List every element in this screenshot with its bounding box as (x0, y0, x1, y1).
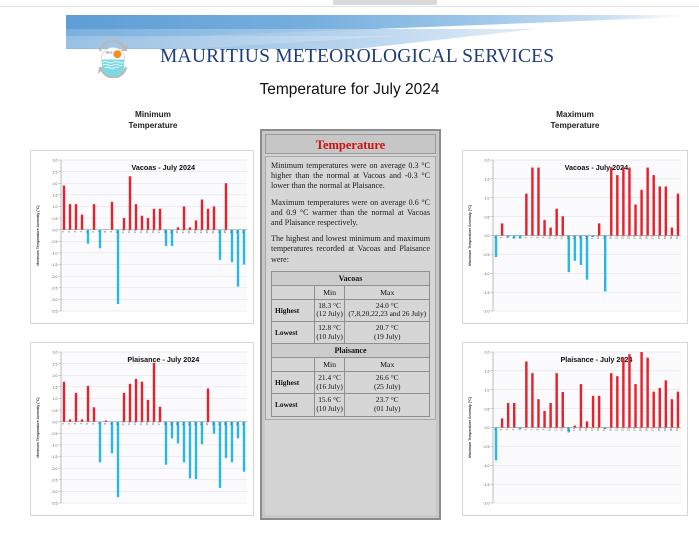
svg-text:11: 11 (121, 422, 125, 425)
svg-text:27: 27 (651, 428, 655, 432)
svg-text:20: 20 (608, 428, 612, 432)
header-banner-graphic (66, 15, 686, 49)
svg-text:-0.5: -0.5 (51, 240, 57, 244)
chart-vacoas-minimum: 3.02.52.01.51.00.50.0-0.5-1.0-1.5-2.0-2.… (30, 150, 254, 324)
svg-text:-3.0: -3.0 (51, 298, 57, 302)
svg-text:-2.0: -2.0 (483, 310, 489, 314)
svg-text:-1.0: -1.0 (51, 252, 57, 256)
table-row: Min Max (272, 285, 430, 299)
svg-text:6: 6 (91, 231, 95, 233)
svg-text:0.0: 0.0 (53, 420, 58, 424)
svg-text:12: 12 (127, 230, 131, 234)
document-page: MMS MAURITIUS METEOROLOGICAL SERVICES Te… (0, 7, 699, 524)
svg-text:28: 28 (223, 422, 227, 426)
svg-text:1: 1 (61, 423, 65, 425)
svg-text:31: 31 (675, 236, 679, 240)
cell-vacoas-lowest-max: 20.7 °C(19 July) (345, 322, 430, 344)
svg-text:16: 16 (151, 230, 155, 234)
svg-text:23: 23 (626, 428, 630, 432)
svg-text:20: 20 (175, 422, 179, 426)
svg-text:-1.0: -1.0 (483, 272, 489, 276)
row-header-lowest-plaisance: Lowest (272, 394, 315, 416)
caption-minimum-temperature: Minimum Temperature (78, 109, 228, 131)
row-header-lowest-vacoas: Lowest (272, 322, 315, 344)
col-blank-plaisance (272, 358, 315, 372)
organization-title: MAURITIUS METEOROLOGICAL SERVICES (160, 46, 630, 68)
svg-text:7: 7 (97, 231, 101, 233)
svg-text:Maximum Temperature Anomaly (°: Maximum Temperature Anomaly (°C) (468, 397, 472, 458)
svg-text:9: 9 (109, 231, 113, 233)
svg-text:-2.0: -2.0 (51, 275, 57, 279)
svg-text:28: 28 (223, 230, 227, 234)
svg-text:24: 24 (199, 230, 203, 234)
svg-text:4: 4 (511, 428, 515, 430)
svg-text:11: 11 (554, 428, 558, 431)
svg-text:10: 10 (548, 428, 552, 432)
table-row: Highest 18.3 °C(12 July) 24.0 °C(7,8,20,… (272, 299, 430, 321)
svg-text:15: 15 (145, 230, 149, 234)
svg-text:-1.5: -1.5 (483, 291, 489, 295)
svg-text:-0.5: -0.5 (483, 445, 489, 449)
svg-text:2: 2 (67, 231, 71, 233)
svg-text:8: 8 (535, 236, 539, 238)
section-header-plaisance: Plaisance (272, 344, 430, 358)
svg-text:16: 16 (584, 428, 588, 432)
svg-text:9: 9 (542, 236, 546, 238)
svg-text:2.0: 2.0 (485, 159, 490, 163)
panel-body: Minimum temperatures were on average 0.3… (265, 156, 436, 420)
svg-text:17: 17 (590, 428, 594, 432)
svg-text:29: 29 (229, 230, 233, 234)
svg-text:19: 19 (602, 428, 606, 432)
svg-text:-3.0: -3.0 (51, 490, 57, 494)
svg-text:Maximum Temperature Anomaly (°: Maximum Temperature Anomaly (°C) (468, 205, 472, 266)
temperature-summary-panel: Temperature Minimum temperatures were on… (260, 129, 441, 520)
row-header-highest-plaisance: Highest (272, 372, 315, 394)
svg-text:5: 5 (85, 423, 89, 425)
svg-text:21: 21 (614, 236, 618, 240)
svg-text:-2.5: -2.5 (51, 286, 57, 290)
svg-text:27: 27 (651, 236, 655, 240)
svg-text:6: 6 (523, 428, 527, 430)
svg-text:-2.0: -2.0 (483, 502, 489, 506)
cell-vacoas-lowest-min: 12.8 °C(10 July) (314, 322, 345, 344)
svg-text:16: 16 (151, 422, 155, 426)
svg-text:1.5: 1.5 (53, 386, 58, 390)
svg-text:1: 1 (493, 428, 497, 430)
svg-text:20: 20 (608, 236, 612, 240)
table-row: Highest 21.4 °C(16 July) 26.6 °C(25 July… (272, 372, 430, 394)
temperature-extremes-table: Vacoas Min Max Highest 18.3 °C(12 July) (271, 271, 430, 417)
cell-plaisance-lowest-min: 15.6 °C(10 July) (314, 394, 345, 416)
svg-text:-2.0: -2.0 (51, 467, 57, 471)
svg-text:23: 23 (626, 236, 630, 240)
svg-text:Vacoas - July 2024: Vacoas - July 2024 (565, 163, 629, 172)
svg-text:2.0: 2.0 (53, 182, 58, 186)
svg-text:2: 2 (499, 428, 503, 430)
section-header-vacoas: Vacoas (272, 271, 430, 285)
svg-text:2.0: 2.0 (53, 374, 58, 378)
svg-text:3: 3 (73, 423, 77, 425)
chart-plaisance-minimum-svg: 3.02.52.01.51.00.50.0-0.5-1.0-1.5-2.0-2.… (31, 343, 253, 515)
svg-text:27: 27 (217, 230, 221, 234)
panel-paragraph-2: Maximum temperatures were on average 0.6… (271, 198, 430, 229)
svg-text:8: 8 (103, 423, 107, 425)
svg-text:2.5: 2.5 (53, 362, 58, 366)
svg-text:17: 17 (157, 230, 161, 234)
svg-text:26: 26 (645, 236, 649, 240)
svg-text:22: 22 (620, 236, 624, 240)
svg-text:-0.5: -0.5 (51, 432, 57, 436)
svg-text:12: 12 (560, 428, 564, 432)
chart-vacoas-maximum: 2.01.51.00.50.0-0.5-1.0-1.5-2.0Maximum T… (462, 150, 688, 324)
col-min-plaisance: Min (314, 358, 345, 372)
svg-text:0.5: 0.5 (485, 215, 490, 219)
svg-text:14: 14 (139, 230, 143, 234)
col-blank-vacoas (272, 285, 315, 299)
svg-text:10: 10 (548, 236, 552, 240)
svg-text:13: 13 (133, 422, 137, 426)
panel-heading: Temperature (265, 134, 436, 154)
svg-text:27: 27 (217, 422, 221, 426)
svg-text:18: 18 (163, 422, 167, 426)
svg-text:-1.0: -1.0 (483, 464, 489, 468)
svg-text:9: 9 (542, 428, 546, 430)
svg-text:-1.5: -1.5 (51, 263, 57, 267)
svg-text:-0.5: -0.5 (483, 253, 489, 257)
svg-text:-3.5: -3.5 (51, 310, 57, 314)
svg-text:25: 25 (639, 428, 643, 432)
svg-text:5: 5 (85, 231, 89, 233)
svg-text:22: 22 (620, 428, 624, 432)
chart-plaisance-maximum-svg: 2.01.51.00.50.0-0.5-1.0-1.5-2.0Maximum T… (463, 343, 687, 515)
panel-paragraph-3: The highest and lowest minimum and maxim… (271, 234, 430, 265)
svg-text:4: 4 (79, 231, 83, 233)
svg-text:18: 18 (596, 236, 600, 240)
svg-text:13: 13 (566, 236, 570, 240)
svg-text:-1.5: -1.5 (483, 483, 489, 487)
svg-text:0.0: 0.0 (485, 234, 490, 238)
svg-text:24: 24 (633, 236, 637, 240)
svg-text:8: 8 (535, 428, 539, 430)
svg-text:1.0: 1.0 (485, 196, 490, 200)
table-row: Plaisance (272, 344, 430, 358)
svg-text:0.5: 0.5 (485, 407, 490, 411)
svg-text:30: 30 (669, 428, 673, 432)
caption-maximum-temperature: Maximum Temperature (500, 109, 650, 131)
svg-text:7: 7 (529, 236, 533, 238)
svg-text:19: 19 (602, 236, 606, 240)
svg-text:22: 22 (187, 230, 191, 234)
chart-vacoas-minimum-svg: 3.02.52.01.51.00.50.0-0.5-1.0-1.5-2.0-2.… (31, 151, 253, 323)
svg-text:29: 29 (229, 422, 233, 426)
svg-text:0.0: 0.0 (53, 228, 58, 232)
svg-text:1.0: 1.0 (53, 205, 58, 209)
svg-text:6: 6 (91, 423, 95, 425)
svg-text:22: 22 (187, 422, 191, 426)
mms-logo: MMS (92, 40, 134, 78)
svg-text:Plaisance - July 2024: Plaisance - July 2024 (560, 355, 632, 364)
cell-plaisance-highest-min: 21.4 °C(16 July) (314, 372, 345, 394)
svg-text:-2.5: -2.5 (51, 478, 57, 482)
svg-text:4: 4 (79, 423, 83, 425)
svg-text:3.0: 3.0 (53, 351, 58, 355)
svg-text:25: 25 (639, 236, 643, 240)
svg-text:1.5: 1.5 (485, 178, 490, 182)
svg-text:24: 24 (199, 422, 203, 426)
svg-text:18: 18 (596, 428, 600, 432)
svg-text:2.0: 2.0 (485, 351, 490, 355)
svg-text:11: 11 (554, 236, 558, 239)
page-title: Temperature for July 2024 (0, 81, 699, 99)
svg-text:19: 19 (169, 422, 173, 426)
svg-text:3: 3 (505, 428, 509, 430)
svg-text:26: 26 (211, 230, 215, 234)
svg-text:29: 29 (663, 236, 667, 240)
svg-text:-1.5: -1.5 (51, 455, 57, 459)
col-min-vacoas: Min (314, 285, 345, 299)
svg-text:5: 5 (517, 236, 521, 238)
svg-text:12: 12 (560, 236, 564, 240)
svg-text:15: 15 (578, 236, 582, 240)
col-max-plaisance: Max (345, 358, 430, 372)
svg-text:25: 25 (205, 422, 209, 426)
svg-text:17: 17 (157, 422, 161, 426)
svg-text:20: 20 (175, 230, 179, 234)
svg-text:1: 1 (61, 231, 65, 233)
svg-text:9: 9 (109, 423, 113, 425)
svg-text:26: 26 (645, 428, 649, 432)
svg-text:14: 14 (572, 428, 576, 432)
svg-text:30: 30 (235, 230, 239, 234)
svg-text:24: 24 (633, 428, 637, 432)
svg-text:2: 2 (67, 423, 71, 425)
svg-text:6: 6 (523, 236, 527, 238)
svg-text:30: 30 (669, 236, 673, 240)
svg-text:13: 13 (566, 428, 570, 432)
svg-text:31: 31 (675, 428, 679, 432)
caption-min-line2: Temperature (78, 120, 228, 131)
chart-plaisance-minimum: 3.02.52.01.51.00.50.0-0.5-1.0-1.5-2.0-2.… (30, 342, 254, 516)
svg-text:14: 14 (139, 422, 143, 426)
svg-text:28: 28 (657, 428, 661, 432)
toolbar-remnant (333, 0, 437, 5)
panel-paragraph-1: Minimum temperatures were on average 0.3… (271, 161, 430, 192)
svg-text:29: 29 (663, 428, 667, 432)
cell-vacoas-highest-max: 24.0 °C(7,8,20,22,23 and 26 July) (345, 299, 430, 321)
cell-plaisance-lowest-max: 23.7 °C(01 July) (345, 394, 430, 416)
svg-text:7: 7 (529, 428, 533, 430)
table-row: Lowest 15.6 °C(10 July) 23.7 °C(01 July) (272, 394, 430, 416)
svg-text:12: 12 (127, 422, 131, 426)
caption-max-line2: Temperature (500, 120, 650, 131)
svg-text:30: 30 (235, 422, 239, 426)
svg-text:Minimum Temperature Anomaly (°: Minimum Temperature Anomaly (°C) (36, 205, 40, 265)
svg-text:10: 10 (115, 422, 119, 426)
svg-text:2: 2 (499, 236, 503, 238)
table-row: Vacoas (272, 271, 430, 285)
svg-text:21: 21 (181, 230, 185, 234)
svg-text:3.0: 3.0 (53, 159, 58, 163)
svg-text:15: 15 (145, 422, 149, 426)
table-row: Lowest 12.8 °C(10 July) 20.7 °C(19 July) (272, 322, 430, 344)
svg-text:31: 31 (241, 422, 245, 426)
svg-text:14: 14 (572, 236, 576, 240)
svg-text:25: 25 (205, 230, 209, 234)
svg-text:4: 4 (511, 236, 515, 238)
svg-text:0.5: 0.5 (53, 409, 58, 413)
svg-text:Vacoas - July 2024: Vacoas - July 2024 (132, 163, 196, 172)
svg-text:3: 3 (73, 231, 77, 233)
svg-text:23: 23 (193, 422, 197, 426)
browser-top-strip (0, 0, 699, 7)
cell-plaisance-highest-max: 26.6 °C(25 July) (345, 372, 430, 394)
svg-text:0.5: 0.5 (53, 217, 58, 221)
svg-text:17: 17 (590, 236, 594, 240)
svg-text:0.0: 0.0 (485, 426, 490, 430)
svg-text:8: 8 (103, 231, 107, 233)
row-header-highest-vacoas: Highest (272, 299, 315, 321)
svg-text:15: 15 (578, 428, 582, 432)
svg-text:1.5: 1.5 (485, 370, 490, 374)
svg-text:31: 31 (241, 230, 245, 234)
caption-max-line1: Maximum (500, 109, 650, 120)
svg-text:11: 11 (121, 230, 125, 233)
svg-text:1.0: 1.0 (53, 397, 58, 401)
svg-text:2.5: 2.5 (53, 170, 58, 174)
svg-text:16: 16 (584, 236, 588, 240)
svg-text:1.0: 1.0 (485, 388, 490, 392)
svg-text:23: 23 (193, 230, 197, 234)
svg-text:7: 7 (97, 423, 101, 425)
table-row: Min Max (272, 358, 430, 372)
svg-text:21: 21 (181, 422, 185, 426)
svg-text:Minimum Temperature Anomaly (°: Minimum Temperature Anomaly (°C) (36, 397, 40, 457)
svg-text:21: 21 (614, 428, 618, 432)
svg-text:1: 1 (493, 236, 497, 238)
svg-text:28: 28 (657, 236, 661, 240)
svg-text:10: 10 (115, 230, 119, 234)
svg-text:5: 5 (517, 428, 521, 430)
chart-plaisance-maximum: 2.01.51.00.50.0-0.5-1.0-1.5-2.0Maximum T… (462, 342, 688, 516)
svg-text:18: 18 (163, 230, 167, 234)
cell-vacoas-highest-min: 18.3 °C(12 July) (314, 299, 345, 321)
chart-vacoas-maximum-svg: 2.01.51.00.50.0-0.5-1.0-1.5-2.0Maximum T… (463, 151, 687, 323)
svg-text:-3.5: -3.5 (51, 502, 57, 506)
svg-text:-1.0: -1.0 (51, 444, 57, 448)
svg-text:1.5: 1.5 (53, 194, 58, 198)
svg-text:13: 13 (133, 230, 137, 234)
svg-text:19: 19 (169, 230, 173, 234)
svg-text:MMS: MMS (106, 51, 113, 55)
caption-min-line1: Minimum (78, 109, 228, 120)
svg-text:3: 3 (505, 236, 509, 238)
col-max-vacoas: Max (345, 285, 430, 299)
svg-text:26: 26 (211, 422, 215, 426)
svg-text:Plaisance - July 2024: Plaisance - July 2024 (127, 355, 199, 364)
